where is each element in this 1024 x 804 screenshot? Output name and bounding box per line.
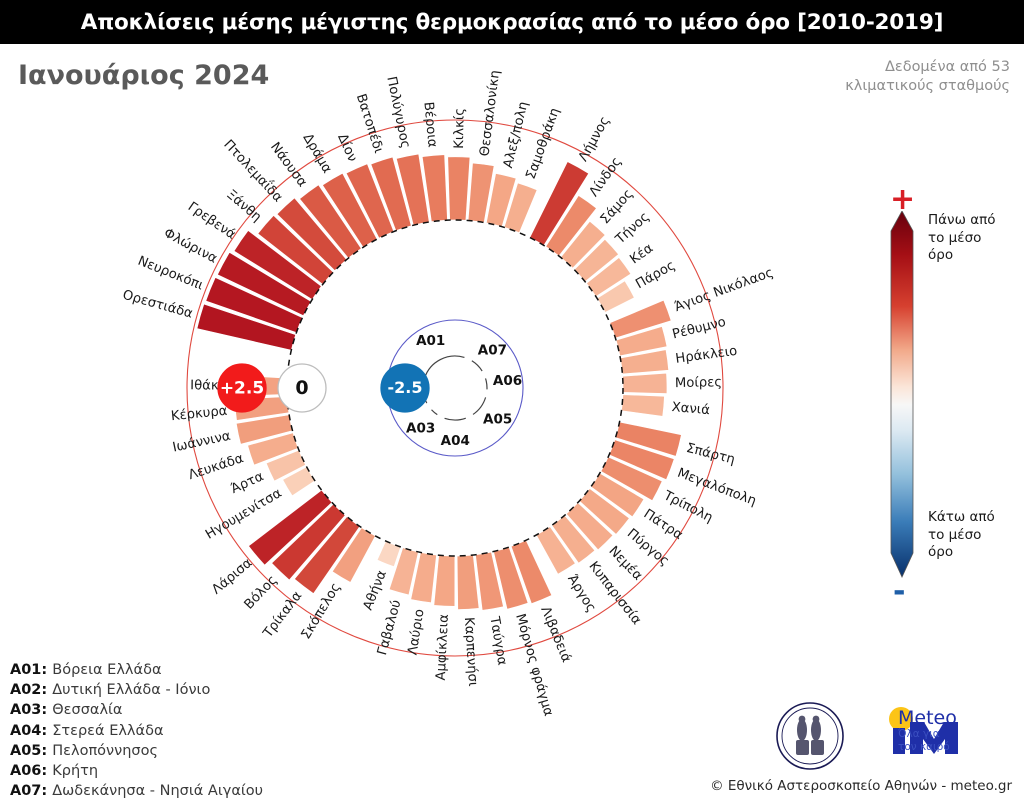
- bar-Μοίρες[interactable]: [623, 373, 667, 393]
- region-legend-code: A03:: [10, 702, 52, 718]
- scale-marker-plus-text: +2.5: [220, 379, 264, 399]
- station-label-Σαμοθράκη: Σαμοθράκη: [523, 106, 563, 182]
- station-label-Νευροκόπι: Νευροκόπι: [136, 253, 206, 294]
- station-label-Χανιά: Χανιά: [671, 399, 711, 418]
- meteo-tagline-1: Όλα για: [898, 728, 957, 741]
- station-label-Αμφίκλεια: Αμφίκλεια: [433, 613, 452, 680]
- station-label-Ρέθυμνο: Ρέθυμνο: [671, 314, 728, 343]
- station-label-Λήμνος: Λήμνος: [575, 114, 613, 165]
- station-label-Κιλκίς: Κιλκίς: [451, 108, 468, 149]
- region-key-arc-A06: [486, 378, 487, 389]
- region-legend-row-A07: A07: Δωδεκάνησα - Νησιά Αιγαίου: [10, 781, 263, 801]
- station-label-Ταύγρα: Ταύγρα: [486, 614, 510, 667]
- station-label-Καρπενήσι: Καρπενήσι: [461, 617, 481, 687]
- station-label-Λιβαδειά: Λιβαδειά: [537, 604, 574, 665]
- region-key-arc-A03: [432, 410, 438, 415]
- region-legend-code: A06:: [10, 763, 52, 779]
- region-key-arc-A04: [445, 418, 466, 420]
- station-label-Άρτα: Άρτα: [228, 468, 266, 497]
- region-key-arc-A01: [425, 356, 465, 378]
- scale-markers-layer: +2.50-2.5: [218, 364, 429, 412]
- ring-zero-line: [287, 220, 623, 556]
- cb-below-l1: Κάτω από: [928, 509, 995, 527]
- minus-sign-icon: -: [893, 577, 905, 607]
- station-label-Αλεξ/πολη: Αλεξ/πολη: [501, 100, 531, 170]
- colorbar-legend: + Πάνω από το μέσο όρο Κάτω από το μέσο …: [880, 185, 1024, 605]
- region-key-label-A03: A03: [406, 420, 435, 436]
- station-label-Ορεστιάδα: Ορεστιάδα: [121, 287, 195, 322]
- station-label-Λάρισα: Λάρισα: [209, 555, 256, 598]
- colorbar-above-label: Πάνω από το μέσο όρο: [928, 212, 995, 265]
- bar-Αθήνα[interactable]: [377, 541, 401, 567]
- station-label-Σκόπελος: Σκόπελος: [298, 580, 344, 642]
- region-legend-code: A05:: [10, 743, 52, 759]
- region-code-legend: A01: Βόρεια ΕλλάδαA02: Δυτική Ελλάδα - Ι…: [10, 660, 263, 801]
- bar-Χανιά[interactable]: [621, 395, 664, 417]
- cb-below-l2: το μέσο: [928, 527, 995, 545]
- region-legend-name: Θεσσαλία: [52, 702, 122, 718]
- station-label-Ηράκλειο: Ηράκλειο: [674, 343, 738, 367]
- region-legend-code: A04:: [10, 723, 52, 739]
- meteo-tagline-2: τον καιρό: [898, 741, 957, 754]
- station-label-Κέρκυρα: Κέρκυρα: [170, 403, 228, 425]
- scale-marker-zero-text: 0: [295, 377, 308, 399]
- station-label-Κέα: Κέα: [627, 240, 656, 267]
- cb-above-l2: το μέσο: [928, 230, 995, 248]
- region-key-arc-A07: [472, 361, 482, 371]
- station-label-Βατοπέδι: Βατοπέδι: [353, 92, 387, 155]
- cb-below-l3: όρο: [928, 544, 995, 562]
- station-label-Βέροια: Βέροια: [420, 101, 440, 148]
- region-legend-name: Δωδεκάνησα - Νησιά Αιγαίου: [52, 783, 263, 799]
- bar-Κιλκίς[interactable]: [448, 157, 470, 221]
- station-label-Άγιος Νικόλαος: Άγιος Νικόλαος: [672, 264, 775, 315]
- region-legend-row-A01: A01: Βόρεια Ελλάδα: [10, 660, 263, 680]
- station-label-Δράμα: Δράμα: [300, 131, 336, 177]
- station-label-Θεσσαλονίκη: Θεσσαλονίκη: [476, 69, 503, 157]
- bar-Αμφίκλεια[interactable]: [434, 555, 455, 606]
- bar-Καρπενήσι[interactable]: [457, 555, 479, 610]
- region-key-label-A05: A05: [483, 411, 512, 427]
- station-label-Αθήνα: Αθήνα: [360, 568, 390, 613]
- station-label-Φλώρινα: Φλώρινα: [161, 225, 220, 267]
- region-legend-row-A04: A04: Στερεά Ελλάδα: [10, 721, 263, 741]
- region-legend-name: Δυτική Ελλάδα - Ιόνιο: [52, 682, 210, 698]
- cb-above-l3: όρο: [928, 247, 995, 265]
- region-key-label-A01: A01: [416, 333, 445, 349]
- region-legend-code: A01:: [10, 662, 52, 678]
- region-legend-name: Κρήτη: [52, 763, 98, 779]
- station-label-Γαβαλού: Γαβαλού: [374, 598, 404, 657]
- footer-credit: © Εθνικό Αστεροσκοπείο Αθηνών - meteo.gr: [710, 778, 1012, 794]
- region-legend-row-A02: A02: Δυτική Ελλάδα - Ιόνιο: [10, 680, 263, 700]
- station-label-Λαύριο: Λαύριο: [405, 608, 428, 656]
- region-key-label-A04: A04: [441, 433, 470, 449]
- region-legend-row-A03: A03: Θεσσαλία: [10, 700, 263, 720]
- region-legend-code: A07:: [10, 783, 52, 799]
- station-label-Βόλος: Βόλος: [241, 572, 281, 613]
- region-key-label-A06: A06: [493, 373, 522, 389]
- scale-marker-minus-text: -2.5: [388, 378, 423, 397]
- region-key-label-A07: A07: [478, 342, 507, 358]
- station-label-Γρεβενά: Γρεβενά: [185, 199, 239, 243]
- meteo-wordmark: Meteo Όλα για τον καιρό: [898, 708, 957, 753]
- meteo-name: Meteo: [898, 708, 957, 728]
- region-legend-name: Στερεά Ελλάδα: [52, 723, 163, 739]
- station-label-Σπάρτη: Σπάρτη: [685, 440, 737, 468]
- region-legend-name: Βόρεια Ελλάδα: [52, 662, 161, 678]
- station-label-Δίον: Δίον: [334, 131, 360, 164]
- noa-seal-logo: [770, 700, 890, 772]
- station-label-Μοίρες: Μοίρες: [675, 374, 722, 391]
- region-legend-code: A02:: [10, 682, 52, 698]
- colorbar-gradient: [880, 211, 924, 611]
- logo-row: Meteo Όλα για τον καιρό: [770, 700, 1020, 772]
- region-legend-name: Πελοπόννησος: [52, 743, 158, 759]
- region-legend-row-A06: A06: Κρήτη: [10, 761, 263, 781]
- cb-above-l1: Πάνω από: [928, 212, 995, 230]
- region-legend-row-A05: A05: Πελοπόννησος: [10, 741, 263, 761]
- station-label-Ιωάννινα: Ιωάννινα: [171, 428, 232, 456]
- colorbar-below-label: Κάτω από το μέσο όρο: [928, 509, 995, 562]
- station-label-Πολύγυρος: Πολύγυρος: [383, 75, 413, 150]
